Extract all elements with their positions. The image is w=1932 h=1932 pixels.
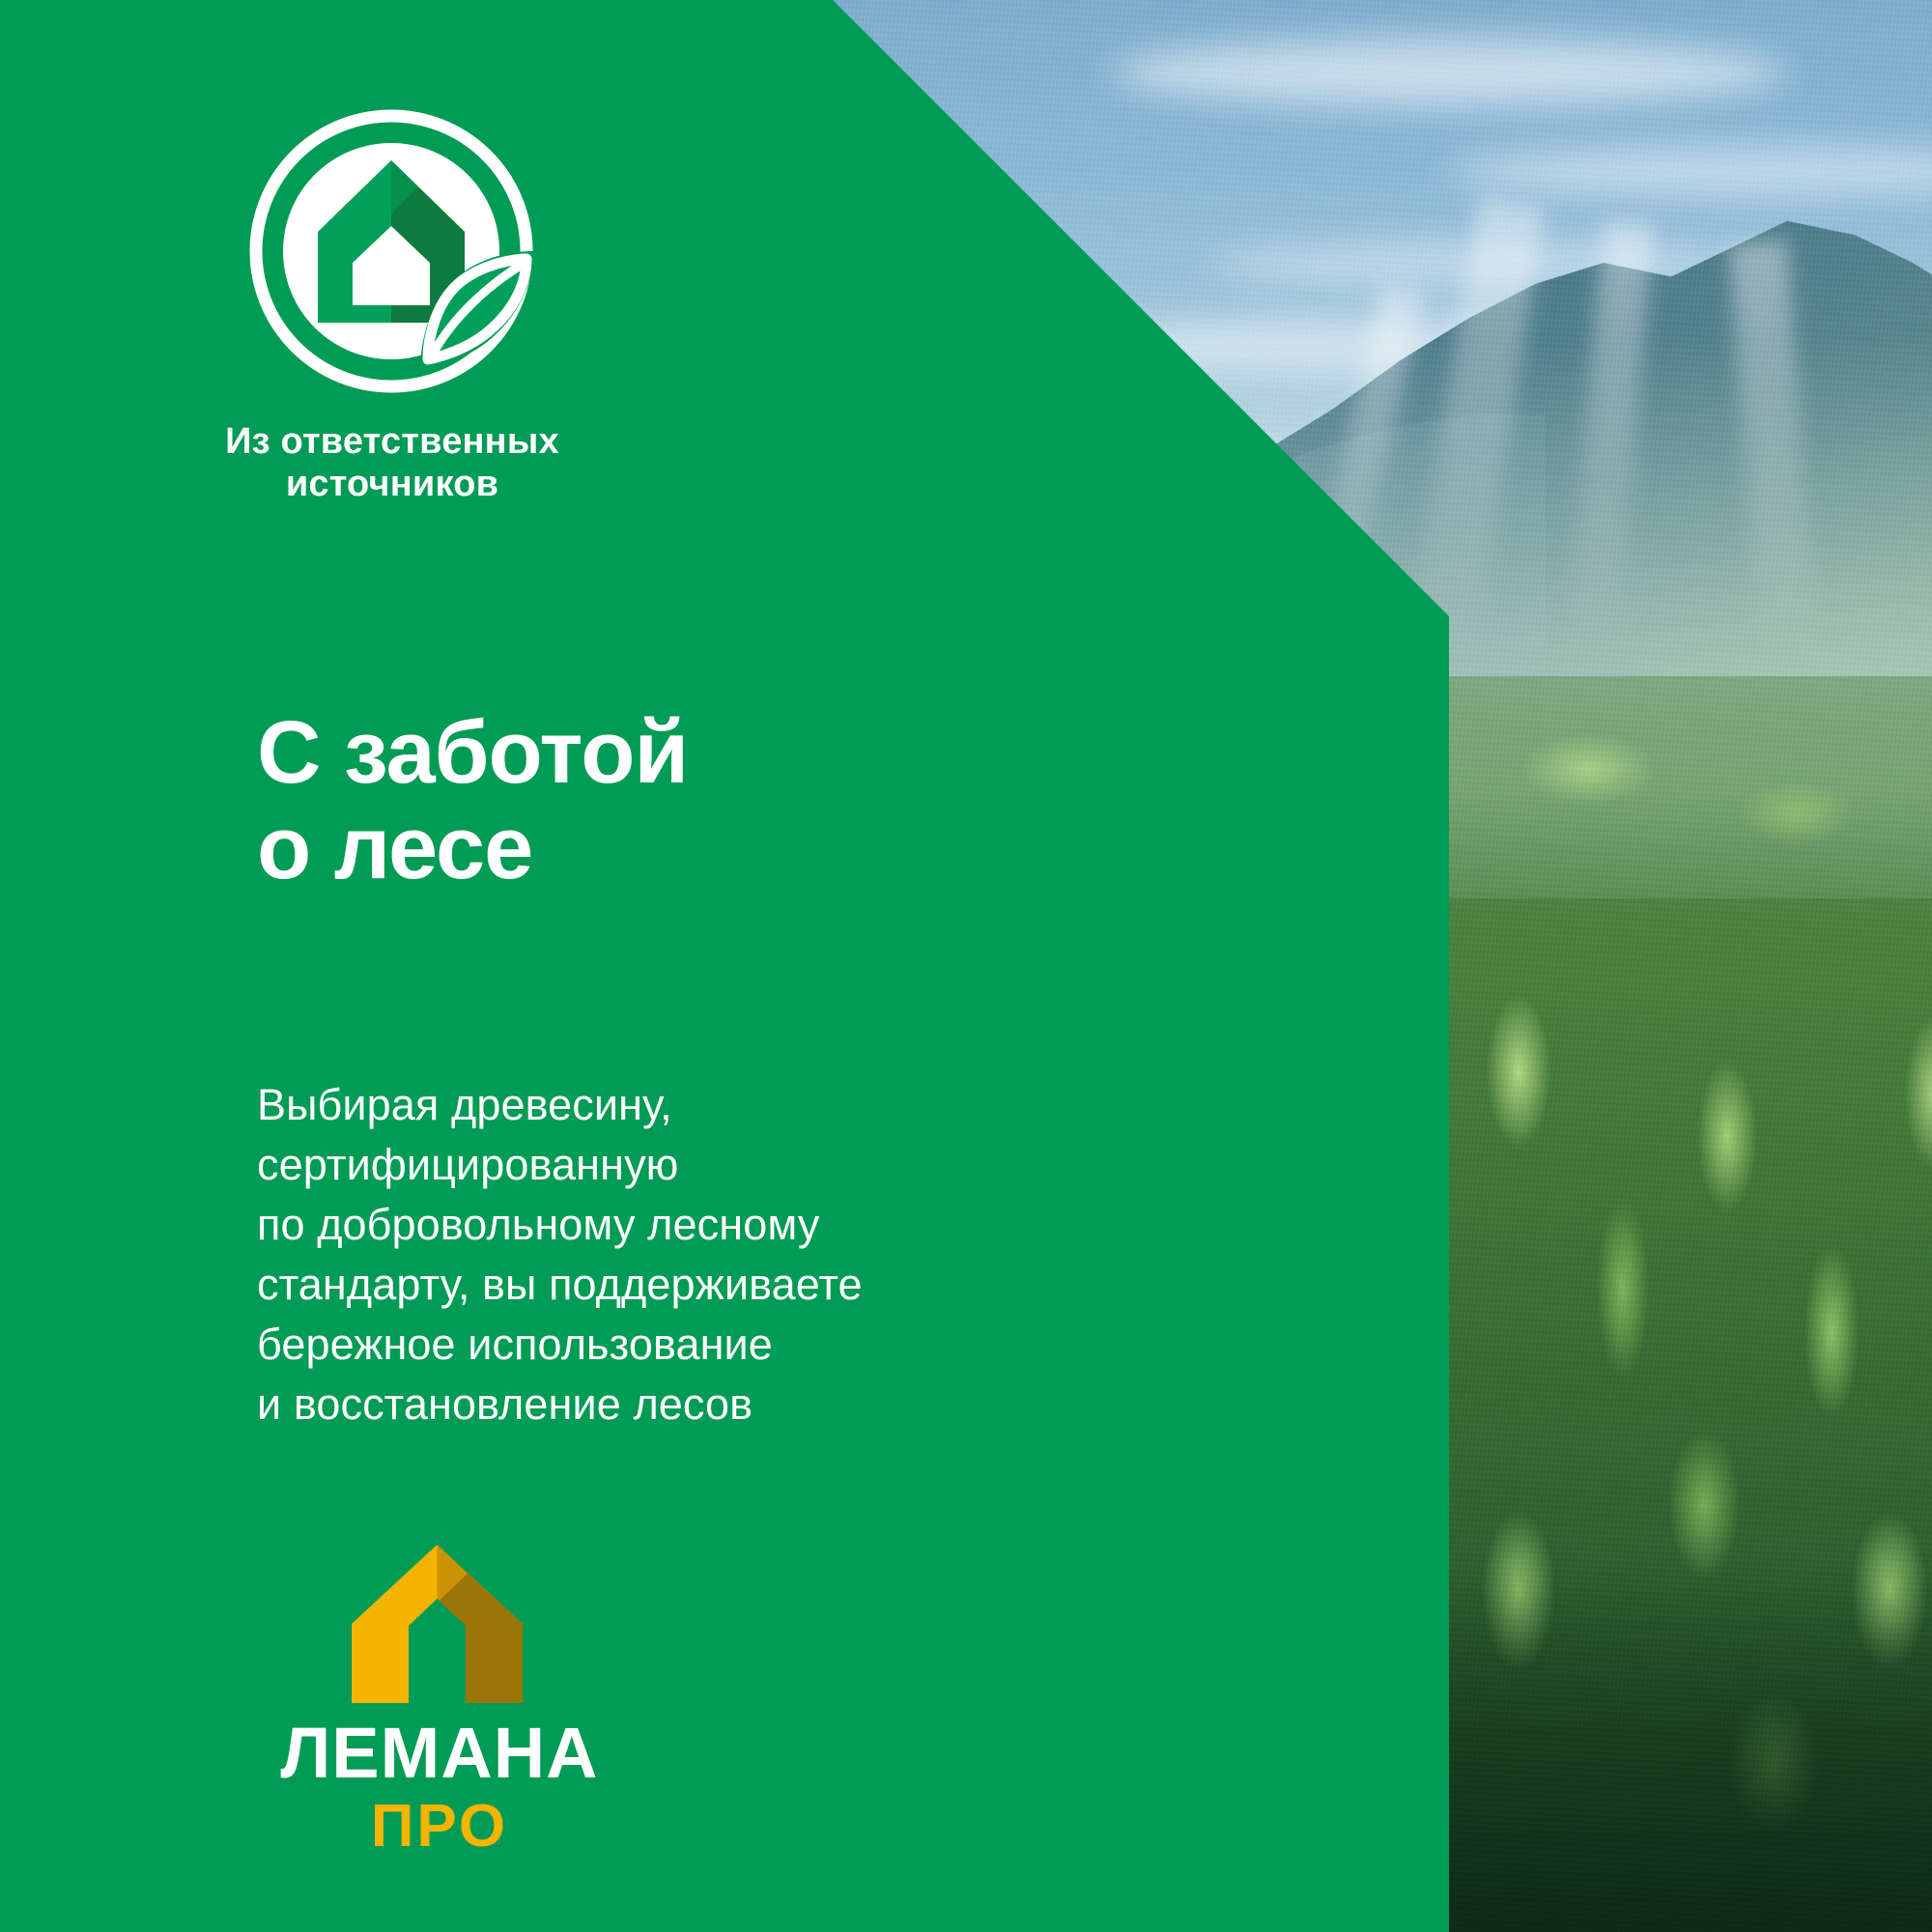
- brand-name: ЛЕМАНА: [246, 1719, 633, 1787]
- lemana-house-icon: [348, 1541, 526, 1707]
- poster-canvas: Из ответственных источников С заботой о …: [0, 0, 1932, 1932]
- brand-logo: ЛЕМАНА ПРО: [246, 1541, 633, 1860]
- brand-suffix: ПРО: [246, 1799, 633, 1856]
- page-title: С заботой о лесе: [257, 705, 1049, 897]
- certification-caption: Из ответственных источников: [189, 420, 595, 505]
- certification-badge: [246, 106, 536, 396]
- house-leaf-circle-icon: [246, 106, 536, 396]
- lemana-house-glyph: [348, 1541, 526, 1707]
- body-copy: Выбирая древесину, сертифицированную по …: [257, 1075, 1068, 1435]
